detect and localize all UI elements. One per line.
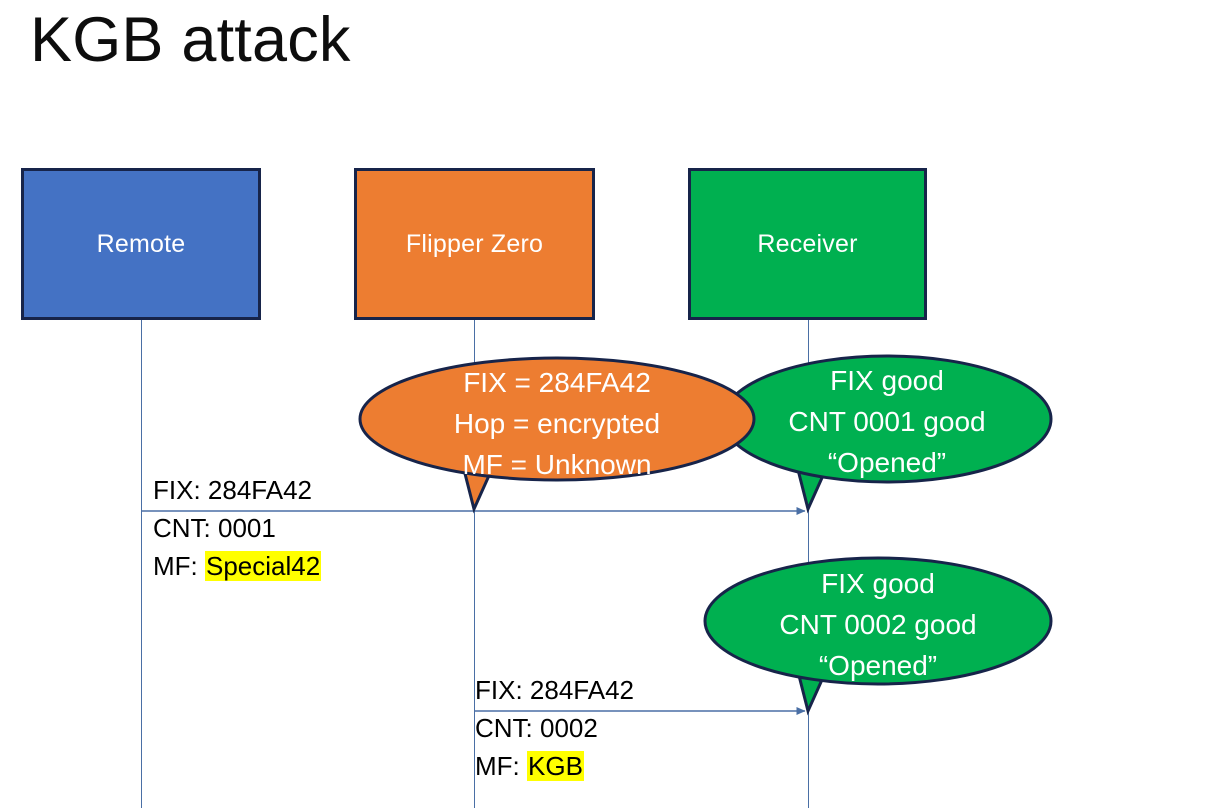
callout-line: “Opened”: [727, 442, 1047, 483]
actor-box-receiver[interactable]: Receiver: [688, 168, 927, 320]
callout-line: Hop = encrypted: [360, 403, 754, 444]
callout-line: CNT 0002 good: [718, 604, 1038, 645]
actor-label-flipper: Flipper Zero: [406, 230, 543, 259]
slide-canvas: KGB attack Remote Flipper Zero Receiver: [0, 0, 1218, 808]
message-field-line: MF: Special42: [153, 547, 321, 585]
actor-box-flipper[interactable]: Flipper Zero: [354, 168, 595, 320]
callout-line: FIX good: [718, 563, 1038, 604]
message-line: FIX: 284FA42: [475, 671, 634, 709]
callout-line: FIX = 284FA42: [360, 362, 754, 403]
message-field-label: MF:: [475, 751, 520, 781]
page-title: KGB attack: [30, 6, 351, 75]
callout-text-flipper: FIX = 284FA42 Hop = encrypted MF = Unkno…: [360, 362, 754, 485]
message-field-line: MF: KGB: [475, 747, 634, 785]
message-line: CNT: 0001: [153, 509, 321, 547]
callout-line: CNT 0001 good: [727, 401, 1047, 442]
message-field-value: Special42: [205, 551, 321, 581]
message-field-value: KGB: [527, 751, 584, 781]
callout-line: FIX good: [727, 360, 1047, 401]
message-label-2: FIX: 284FA42 CNT: 0002 MF: KGB: [475, 671, 634, 785]
actor-label-receiver: Receiver: [757, 230, 857, 259]
actor-label-remote: Remote: [97, 230, 186, 259]
callout-line: “Opened”: [718, 645, 1038, 686]
message-label-1: FIX: 284FA42 CNT: 0001 MF: Special42: [153, 471, 321, 585]
lifeline-remote: [141, 320, 142, 808]
message-line: FIX: 284FA42: [153, 471, 321, 509]
callout-line: MF = Unknown: [360, 444, 754, 485]
callout-text-receiver-2: FIX good CNT 0002 good “Opened”: [718, 563, 1038, 686]
actor-box-remote[interactable]: Remote: [21, 168, 261, 320]
callout-text-receiver-1: FIX good CNT 0001 good “Opened”: [727, 360, 1047, 483]
message-line: CNT: 0002: [475, 709, 634, 747]
message-field-label: MF:: [153, 551, 198, 581]
